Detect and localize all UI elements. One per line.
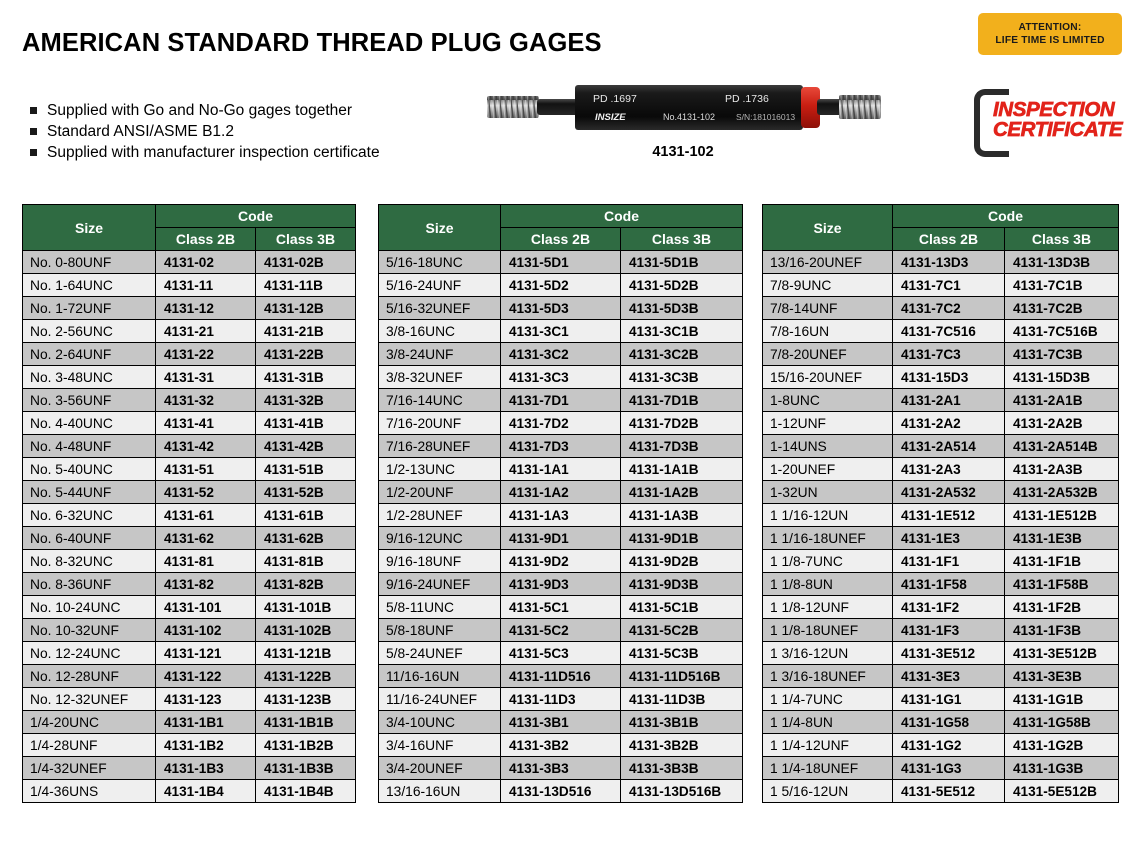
cell-code-class-3b: 4131-15D3B: [1005, 366, 1119, 389]
cell-code-class-3b: 4131-11B: [256, 274, 356, 297]
cell-code-class-2b: 4131-7C2: [893, 297, 1005, 320]
cell-size: 1-8UNC: [763, 389, 893, 412]
inspection-certificate-logo: INSPECTION CERTIFICATE: [972, 88, 1124, 150]
table-row: 1 1/8-7UNC4131-1F14131-1F1B: [763, 550, 1119, 573]
cell-code-class-2b: 4131-82: [156, 573, 256, 596]
cell-code-class-2b: 4131-2A514: [893, 435, 1005, 458]
column-header-code: Code: [501, 205, 743, 228]
table-row: 1/4-20UNC4131-1B14131-1B1B: [23, 711, 356, 734]
table-row: No. 4-48UNF4131-424131-42B: [23, 435, 356, 458]
table-row: No. 12-32UNEF4131-1234131-123B: [23, 688, 356, 711]
table-row: 1/4-36UNS4131-1B44131-1B4B: [23, 780, 356, 803]
cell-code-class-2b: 4131-21: [156, 320, 256, 343]
cell-size: No. 10-32UNF: [23, 619, 156, 642]
column-header-class-2b: Class 2B: [893, 228, 1005, 251]
cell-code-class-3b: 4131-52B: [256, 481, 356, 504]
cell-code-class-2b: 4131-102: [156, 619, 256, 642]
product-code-caption: 4131-102: [483, 144, 883, 160]
cell-code-class-2b: 4131-3B1: [501, 711, 621, 734]
cell-size: 1 1/4-7UNC: [763, 688, 893, 711]
cell-size: 1 1/8-18UNEF: [763, 619, 893, 642]
cell-size: No. 4-40UNC: [23, 412, 156, 435]
table-row: 1 1/4-8UN4131-1G584131-1G58B: [763, 711, 1119, 734]
cell-code-class-2b: 4131-9D2: [501, 550, 621, 573]
cell-size: 1/4-32UNEF: [23, 757, 156, 780]
cell-code-class-2b: 4131-1F58: [893, 573, 1005, 596]
cell-size: No. 2-64UNF: [23, 343, 156, 366]
cell-code-class-3b: 4131-42B: [256, 435, 356, 458]
cell-code-class-2b: 4131-1E3: [893, 527, 1005, 550]
cell-code-class-2b: 4131-1G58: [893, 711, 1005, 734]
cell-size: 7/8-16UN: [763, 320, 893, 343]
table-row: No. 6-40UNF4131-624131-62B: [23, 527, 356, 550]
cell-size: No. 3-48UNC: [23, 366, 156, 389]
table-row: No. 1-72UNF4131-124131-12B: [23, 297, 356, 320]
cell-size: No. 3-56UNF: [23, 389, 156, 412]
table-row: No. 1-64UNC4131-114131-11B: [23, 274, 356, 297]
cell-code-class-2b: 4131-2A1: [893, 389, 1005, 412]
cell-code-class-3b: 4131-3E512B: [1005, 642, 1119, 665]
table-row: No. 5-44UNF4131-524131-52B: [23, 481, 356, 504]
cell-size: 1 1/4-8UN: [763, 711, 893, 734]
cell-code-class-3b: 4131-1F2B: [1005, 596, 1119, 619]
list-item: Supplied with Go and No-Go gages togethe…: [30, 100, 380, 121]
column-header-size: Size: [23, 205, 156, 251]
table-row: 1 1/8-12UNF4131-1F24131-1F2B: [763, 596, 1119, 619]
cell-size: 1-32UN: [763, 481, 893, 504]
cell-code-class-2b: 4131-2A2: [893, 412, 1005, 435]
cell-code-class-2b: 4131-123: [156, 688, 256, 711]
cell-code-class-2b: 4131-1A2: [501, 481, 621, 504]
cell-size: No. 2-56UNC: [23, 320, 156, 343]
table-row: 7/16-20UNF4131-7D24131-7D2B: [379, 412, 743, 435]
cell-code-class-3b: 4131-1G3B: [1005, 757, 1119, 780]
column-header-class-3b: Class 3B: [256, 228, 356, 251]
cell-size: 7/16-20UNF: [379, 412, 501, 435]
table-row: No. 8-32UNC4131-814131-81B: [23, 550, 356, 573]
cell-code-class-2b: 4131-5D3: [501, 297, 621, 320]
table-row: 9/16-18UNF4131-9D24131-9D2B: [379, 550, 743, 573]
cell-code-class-3b: 4131-102B: [256, 619, 356, 642]
cell-code-class-2b: 4131-2A532: [893, 481, 1005, 504]
cell-code-class-2b: 4131-1B4: [156, 780, 256, 803]
cell-code-class-3b: 4131-2A532B: [1005, 481, 1119, 504]
list-item: Supplied with manufacturer inspection ce…: [30, 142, 380, 163]
marking-brand: INSIZE: [595, 112, 626, 123]
cell-size: 1-14UNS: [763, 435, 893, 458]
right-thread: [839, 95, 881, 119]
cell-size: 3/8-24UNF: [379, 343, 501, 366]
table-row: 1-32UN4131-2A5324131-2A532B: [763, 481, 1119, 504]
cell-code-class-3b: 4131-1E3B: [1005, 527, 1119, 550]
cell-size: 3/8-32UNEF: [379, 366, 501, 389]
table-row: 5/8-18UNF4131-5C24131-5C2B: [379, 619, 743, 642]
cell-code-class-2b: 4131-1F3: [893, 619, 1005, 642]
cell-size: 7/8-20UNEF: [763, 343, 893, 366]
cell-code-class-3b: 4131-2A1B: [1005, 389, 1119, 412]
cell-code-class-3b: 4131-02B: [256, 251, 356, 274]
table-row: No. 3-56UNF4131-324131-32B: [23, 389, 356, 412]
cell-size: 1 3/16-12UN: [763, 642, 893, 665]
cell-code-class-3b: 4131-61B: [256, 504, 356, 527]
cell-size: No. 5-40UNC: [23, 458, 156, 481]
cell-code-class-3b: 4131-1A2B: [621, 481, 743, 504]
cell-code-class-2b: 4131-3C2: [501, 343, 621, 366]
column-header-size: Size: [763, 205, 893, 251]
cell-code-class-3b: 4131-5C3B: [621, 642, 743, 665]
cell-code-class-2b: 4131-1G2: [893, 734, 1005, 757]
cell-code-class-2b: 4131-7C516: [893, 320, 1005, 343]
cell-size: 1-20UNEF: [763, 458, 893, 481]
cell-code-class-3b: 4131-3C2B: [621, 343, 743, 366]
cell-code-class-3b: 4131-2A514B: [1005, 435, 1119, 458]
cell-code-class-2b: 4131-5D2: [501, 274, 621, 297]
cell-size: 1 5/16-12UN: [763, 780, 893, 803]
cell-code-class-3b: 4131-32B: [256, 389, 356, 412]
cell-code-class-3b: 4131-9D2B: [621, 550, 743, 573]
cell-code-class-3b: 4131-1G1B: [1005, 688, 1119, 711]
cell-code-class-3b: 4131-1A1B: [621, 458, 743, 481]
cell-size: No. 8-36UNF: [23, 573, 156, 596]
cell-code-class-2b: 4131-7D1: [501, 389, 621, 412]
cell-size: 5/8-11UNC: [379, 596, 501, 619]
cell-size: 11/16-16UN: [379, 665, 501, 688]
cell-size: 1/2-28UNEF: [379, 504, 501, 527]
cell-code-class-3b: 4131-5D3B: [621, 297, 743, 320]
cell-code-class-3b: 4131-1B4B: [256, 780, 356, 803]
table-row: No. 2-56UNC4131-214131-21B: [23, 320, 356, 343]
column-header-class-2b: Class 2B: [501, 228, 621, 251]
cell-code-class-3b: 4131-7C1B: [1005, 274, 1119, 297]
cell-code-class-3b: 4131-7D2B: [621, 412, 743, 435]
cell-code-class-3b: 4131-11D3B: [621, 688, 743, 711]
cell-size: 9/16-12UNC: [379, 527, 501, 550]
column-header-class-3b: Class 3B: [621, 228, 743, 251]
cell-code-class-3b: 4131-41B: [256, 412, 356, 435]
table-row: 1 1/8-18UNEF4131-1F34131-1F3B: [763, 619, 1119, 642]
column-header-size: Size: [379, 205, 501, 251]
cell-size: 5/16-32UNEF: [379, 297, 501, 320]
table-row: 1-20UNEF4131-2A34131-2A3B: [763, 458, 1119, 481]
cell-code-class-2b: 4131-81: [156, 550, 256, 573]
marking-pd-right: PD .1736: [725, 93, 769, 105]
table-row: 7/8-14UNF4131-7C24131-7C2B: [763, 297, 1119, 320]
table-row: 3/4-20UNEF4131-3B34131-3B3B: [379, 757, 743, 780]
cell-code-class-2b: 4131-02: [156, 251, 256, 274]
cell-size: 9/16-24UNEF: [379, 573, 501, 596]
cell-code-class-2b: 4131-3C1: [501, 320, 621, 343]
cell-size: No. 1-72UNF: [23, 297, 156, 320]
cell-size: 1 1/8-7UNC: [763, 550, 893, 573]
cell-code-class-2b: 4131-1F2: [893, 596, 1005, 619]
cell-code-class-3b: 4131-1B1B: [256, 711, 356, 734]
cell-code-class-3b: 4131-7C3B: [1005, 343, 1119, 366]
left-shaft: [537, 99, 579, 115]
cell-code-class-3b: 4131-7C2B: [1005, 297, 1119, 320]
table-row: 9/16-12UNC4131-9D14131-9D1B: [379, 527, 743, 550]
cell-code-class-3b: 4131-12B: [256, 297, 356, 320]
gage-code-table: SizeCodeClass 2BClass 3B13/16-20UNEF4131…: [762, 204, 1119, 803]
cell-code-class-3b: 4131-3E3B: [1005, 665, 1119, 688]
cell-size: No. 12-32UNEF: [23, 688, 156, 711]
cell-code-class-3b: 4131-5D1B: [621, 251, 743, 274]
cell-code-class-2b: 4131-5C3: [501, 642, 621, 665]
cell-size: No. 12-28UNF: [23, 665, 156, 688]
table-row: No. 12-24UNC4131-1214131-121B: [23, 642, 356, 665]
table-row: 1 1/4-12UNF4131-1G24131-1G2B: [763, 734, 1119, 757]
cell-size: 13/16-16UN: [379, 780, 501, 803]
column-header-class-2b: Class 2B: [156, 228, 256, 251]
cell-code-class-2b: 4131-32: [156, 389, 256, 412]
table-row: 7/8-16UN4131-7C5164131-7C516B: [763, 320, 1119, 343]
table-row: 15/16-20UNEF4131-15D34131-15D3B: [763, 366, 1119, 389]
marking-pd-left: PD .1697: [593, 93, 637, 105]
table-row: 1/2-13UNC4131-1A14131-1A1B: [379, 458, 743, 481]
table-row: 1 3/16-12UN4131-3E5124131-3E512B: [763, 642, 1119, 665]
cell-code-class-2b: 4131-5C1: [501, 596, 621, 619]
cell-code-class-3b: 4131-31B: [256, 366, 356, 389]
cell-code-class-2b: 4131-9D1: [501, 527, 621, 550]
cell-code-class-3b: 4131-22B: [256, 343, 356, 366]
cell-size: No. 5-44UNF: [23, 481, 156, 504]
product-photo: PD .1697 PD .1736 INSIZE No.4131-102 S/N…: [483, 78, 883, 140]
table-row: 5/16-24UNF4131-5D24131-5D2B: [379, 274, 743, 297]
cell-code-class-2b: 4131-42: [156, 435, 256, 458]
cell-code-class-3b: 4131-3B1B: [621, 711, 743, 734]
square-bullet-icon: [30, 128, 37, 135]
table-row: 5/16-18UNC4131-5D14131-5D1B: [379, 251, 743, 274]
cell-size: 1/4-20UNC: [23, 711, 156, 734]
cell-code-class-3b: 4131-121B: [256, 642, 356, 665]
cell-code-class-2b: 4131-3E3: [893, 665, 1005, 688]
cell-code-class-3b: 4131-3B3B: [621, 757, 743, 780]
cell-code-class-3b: 4131-1A3B: [621, 504, 743, 527]
cell-code-class-3b: 4131-7D1B: [621, 389, 743, 412]
cell-code-class-3b: 4131-101B: [256, 596, 356, 619]
cell-code-class-3b: 4131-1F58B: [1005, 573, 1119, 596]
cell-size: 1 1/4-18UNEF: [763, 757, 893, 780]
cell-size: 1 1/4-12UNF: [763, 734, 893, 757]
table-row: 1-8UNC4131-2A14131-2A1B: [763, 389, 1119, 412]
cell-code-class-2b: 4131-51: [156, 458, 256, 481]
cell-code-class-2b: 4131-3B2: [501, 734, 621, 757]
square-bullet-icon: [30, 149, 37, 156]
cell-size: 1/2-13UNC: [379, 458, 501, 481]
cell-size: 7/8-9UNC: [763, 274, 893, 297]
cell-code-class-3b: 4131-2A3B: [1005, 458, 1119, 481]
table-row: No. 2-64UNF4131-224131-22B: [23, 343, 356, 366]
attention-badge-line2: LIFE TIME IS LIMITED: [995, 34, 1104, 47]
cell-code-class-2b: 4131-5D1: [501, 251, 621, 274]
cell-code-class-3b: 4131-51B: [256, 458, 356, 481]
cell-code-class-2b: 4131-2A3: [893, 458, 1005, 481]
table-row: No. 3-48UNC4131-314131-31B: [23, 366, 356, 389]
marking-serial: S/N:181016013: [736, 112, 795, 122]
table-row: 1-14UNS4131-2A5144131-2A514B: [763, 435, 1119, 458]
cell-size: 1 1/8-12UNF: [763, 596, 893, 619]
cell-size: No. 0-80UNF: [23, 251, 156, 274]
cell-size: 1/4-28UNF: [23, 734, 156, 757]
cell-code-class-2b: 4131-7D2: [501, 412, 621, 435]
table-row: No. 5-40UNC4131-514131-51B: [23, 458, 356, 481]
table-row: No. 12-28UNF4131-1224131-122B: [23, 665, 356, 688]
table-row: 11/16-24UNEF4131-11D34131-11D3B: [379, 688, 743, 711]
cell-size: 7/16-14UNC: [379, 389, 501, 412]
table-row: No. 0-80UNF4131-024131-02B: [23, 251, 356, 274]
cell-code-class-2b: 4131-7D3: [501, 435, 621, 458]
cell-size: 7/8-14UNF: [763, 297, 893, 320]
cell-size: 5/16-24UNF: [379, 274, 501, 297]
cell-code-class-2b: 4131-13D3: [893, 251, 1005, 274]
table-row: 1 1/4-18UNEF4131-1G34131-1G3B: [763, 757, 1119, 780]
table-row: 1/4-28UNF4131-1B24131-1B2B: [23, 734, 356, 757]
cell-code-class-3b: 4131-13D3B: [1005, 251, 1119, 274]
cell-code-class-2b: 4131-1G3: [893, 757, 1005, 780]
cell-size: 3/8-16UNC: [379, 320, 501, 343]
table-row: No. 10-24UNC4131-1014131-101B: [23, 596, 356, 619]
cell-code-class-2b: 4131-1B1: [156, 711, 256, 734]
table-row: 1 1/16-18UNEF4131-1E34131-1E3B: [763, 527, 1119, 550]
cell-code-class-3b: 4131-1F3B: [1005, 619, 1119, 642]
table-row: 3/8-32UNEF4131-3C34131-3C3B: [379, 366, 743, 389]
inspection-logo-line2: CERTIFICATE: [993, 120, 1122, 140]
cell-code-class-2b: 4131-1E512: [893, 504, 1005, 527]
table-row: 7/16-28UNEF4131-7D34131-7D3B: [379, 435, 743, 458]
cell-code-class-3b: 4131-122B: [256, 665, 356, 688]
column-header-code: Code: [156, 205, 356, 228]
table-row: 3/8-16UNC4131-3C14131-3C1B: [379, 320, 743, 343]
cell-code-class-3b: 4131-82B: [256, 573, 356, 596]
cell-size: No. 6-40UNF: [23, 527, 156, 550]
table-row: 1/2-28UNEF4131-1A34131-1A3B: [379, 504, 743, 527]
cell-code-class-2b: 4131-15D3: [893, 366, 1005, 389]
cell-code-class-2b: 4131-11D516: [501, 665, 621, 688]
cell-code-class-2b: 4131-7C1: [893, 274, 1005, 297]
cell-size: No. 6-32UNC: [23, 504, 156, 527]
gage-code-table: SizeCodeClass 2BClass 3B5/16-18UNC4131-5…: [378, 204, 743, 803]
cell-code-class-2b: 4131-1G1: [893, 688, 1005, 711]
table-row: 9/16-24UNEF4131-9D34131-9D3B: [379, 573, 743, 596]
column-header-class-3b: Class 3B: [1005, 228, 1119, 251]
cell-size: 5/8-24UNEF: [379, 642, 501, 665]
cell-size: 7/16-28UNEF: [379, 435, 501, 458]
cell-code-class-3b: 4131-7D3B: [621, 435, 743, 458]
table-row: 5/8-11UNC4131-5C14131-5C1B: [379, 596, 743, 619]
cell-code-class-2b: 4131-3E512: [893, 642, 1005, 665]
table-row: 3/4-16UNF4131-3B24131-3B2B: [379, 734, 743, 757]
table-row: 1 1/4-7UNC4131-1G14131-1G1B: [763, 688, 1119, 711]
cell-code-class-3b: 4131-123B: [256, 688, 356, 711]
cell-code-class-2b: 4131-31: [156, 366, 256, 389]
left-thread: [487, 96, 539, 118]
cell-code-class-2b: 4131-41: [156, 412, 256, 435]
cell-code-class-2b: 4131-13D516: [501, 780, 621, 803]
cell-code-class-3b: 4131-1E512B: [1005, 504, 1119, 527]
cell-size: 5/16-18UNC: [379, 251, 501, 274]
table-row: 1/4-32UNEF4131-1B34131-1B3B: [23, 757, 356, 780]
page-title: AMERICAN STANDARD THREAD PLUG GAGES: [22, 29, 602, 58]
marking-model: No.4131-102: [663, 112, 715, 122]
cell-size: 3/4-16UNF: [379, 734, 501, 757]
cell-code-class-3b: 4131-3B2B: [621, 734, 743, 757]
table-row: 3/4-10UNC4131-3B14131-3B1B: [379, 711, 743, 734]
cell-code-class-3b: 4131-3C1B: [621, 320, 743, 343]
table-row: 13/16-20UNEF4131-13D34131-13D3B: [763, 251, 1119, 274]
cell-size: 11/16-24UNEF: [379, 688, 501, 711]
cell-code-class-2b: 4131-62: [156, 527, 256, 550]
cell-code-class-3b: 4131-1B3B: [256, 757, 356, 780]
table-row: 1 5/16-12UN4131-5E5124131-5E512B: [763, 780, 1119, 803]
feature-list: Supplied with Go and No-Go gages togethe…: [30, 100, 380, 163]
inspection-logo-line1: INSPECTION: [993, 100, 1122, 120]
cell-code-class-2b: 4131-1A3: [501, 504, 621, 527]
cell-size: 5/8-18UNF: [379, 619, 501, 642]
table-row: 1 3/16-18UNEF4131-3E34131-3E3B: [763, 665, 1119, 688]
cell-code-class-2b: 4131-52: [156, 481, 256, 504]
table-row: 11/16-16UN4131-11D5164131-11D516B: [379, 665, 743, 688]
table-row: No. 6-32UNC4131-614131-61B: [23, 504, 356, 527]
cell-size: 15/16-20UNEF: [763, 366, 893, 389]
cell-code-class-2b: 4131-1A1: [501, 458, 621, 481]
table-row: 1/2-20UNF4131-1A24131-1A2B: [379, 481, 743, 504]
feature-text: Supplied with Go and No-Go gages togethe…: [47, 102, 352, 119]
cell-code-class-2b: 4131-7C3: [893, 343, 1005, 366]
cell-code-class-3b: 4131-3C3B: [621, 366, 743, 389]
cell-size: 3/4-20UNEF: [379, 757, 501, 780]
cell-code-class-2b: 4131-61: [156, 504, 256, 527]
cell-code-class-2b: 4131-5E512: [893, 780, 1005, 803]
cell-code-class-3b: 4131-21B: [256, 320, 356, 343]
cell-size: No. 4-48UNF: [23, 435, 156, 458]
cell-code-class-2b: 4131-122: [156, 665, 256, 688]
table-row: No. 10-32UNF4131-1024131-102B: [23, 619, 356, 642]
cell-size: 3/4-10UNC: [379, 711, 501, 734]
cell-code-class-3b: 4131-7C516B: [1005, 320, 1119, 343]
table-row: 7/16-14UNC4131-7D14131-7D1B: [379, 389, 743, 412]
cell-size: 1 1/8-8UN: [763, 573, 893, 596]
table-row: 7/8-20UNEF4131-7C34131-7C3B: [763, 343, 1119, 366]
cell-code-class-3b: 4131-1G2B: [1005, 734, 1119, 757]
cell-code-class-2b: 4131-1F1: [893, 550, 1005, 573]
cell-code-class-3b: 4131-5E512B: [1005, 780, 1119, 803]
cell-code-class-3b: 4131-13D516B: [621, 780, 743, 803]
cell-code-class-2b: 4131-22: [156, 343, 256, 366]
cell-code-class-3b: 4131-81B: [256, 550, 356, 573]
inspection-logo-text: INSPECTION CERTIFICATE: [993, 100, 1122, 140]
cell-code-class-2b: 4131-3B3: [501, 757, 621, 780]
table-row: 5/8-24UNEF4131-5C34131-5C3B: [379, 642, 743, 665]
cell-code-class-3b: 4131-62B: [256, 527, 356, 550]
cell-size: 9/16-18UNF: [379, 550, 501, 573]
table-row: 1 1/8-8UN4131-1F584131-1F58B: [763, 573, 1119, 596]
cell-code-class-3b: 4131-1B2B: [256, 734, 356, 757]
cell-code-class-2b: 4131-5C2: [501, 619, 621, 642]
cell-code-class-2b: 4131-1B3: [156, 757, 256, 780]
cell-size: 1/4-36UNS: [23, 780, 156, 803]
attention-badge: ATTENTION: LIFE TIME IS LIMITED: [978, 13, 1122, 55]
cell-size: 1/2-20UNF: [379, 481, 501, 504]
cell-code-class-3b: 4131-2A2B: [1005, 412, 1119, 435]
cell-size: 1 3/16-18UNEF: [763, 665, 893, 688]
table-row: 3/8-24UNF4131-3C24131-3C2B: [379, 343, 743, 366]
table-row: No. 8-36UNF4131-824131-82B: [23, 573, 356, 596]
cell-size: 1 1/16-12UN: [763, 504, 893, 527]
cell-size: No. 10-24UNC: [23, 596, 156, 619]
feature-text: Standard ANSI/ASME B1.2: [47, 123, 234, 140]
cell-code-class-2b: 4131-1B2: [156, 734, 256, 757]
cell-code-class-3b: 4131-9D3B: [621, 573, 743, 596]
cell-code-class-3b: 4131-9D1B: [621, 527, 743, 550]
